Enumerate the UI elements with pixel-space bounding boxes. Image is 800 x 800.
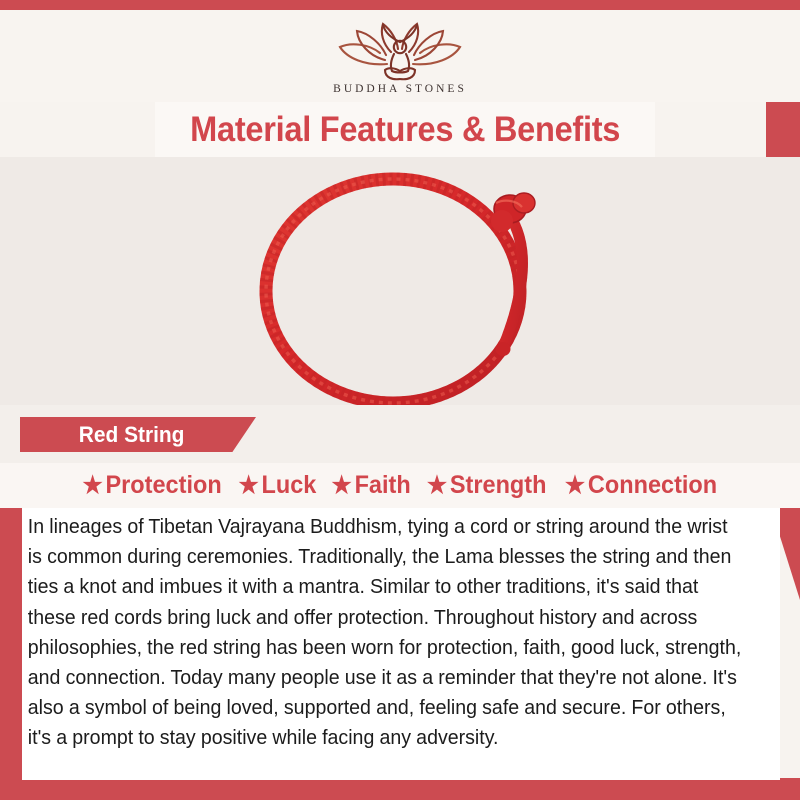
star-icon: ★: [331, 474, 351, 498]
product-label-banner: Red String: [20, 417, 256, 452]
red-string-bracelet-image: [238, 159, 568, 419]
benefit-item-luck: ★ Luck: [236, 471, 320, 500]
frame-bottom-border: [0, 778, 800, 800]
benefit-item-connection: ★ Connection: [562, 471, 720, 500]
brand-name: BUDDHA STONES: [333, 83, 467, 95]
frame-top-border: [0, 0, 800, 10]
benefit-label: Faith: [354, 471, 410, 500]
benefit-label: Strength: [450, 471, 547, 500]
infographic-card: BUDDHA STONES Material Features & Benefi…: [0, 0, 800, 800]
benefit-item-faith: ★ Faith: [328, 471, 413, 500]
star-icon: ★: [238, 474, 258, 498]
description-panel: In lineages of Tibetan Vajrayana Buddhis…: [22, 508, 780, 780]
product-label-text: Red String: [79, 422, 185, 448]
title-band: Material Features & Benefits: [155, 102, 655, 157]
benefit-item-protection: ★ Protection: [79, 471, 224, 500]
benefit-label: Protection: [105, 471, 221, 500]
star-icon: ★: [82, 474, 102, 498]
lotus-meditation-figure-icon: [325, 20, 475, 82]
star-icon: ★: [427, 474, 447, 498]
description-text: In lineages of Tibetan Vajrayana Buddhis…: [22, 510, 753, 754]
page-title: Material Features & Benefits: [190, 110, 620, 150]
product-photo-band: [0, 157, 800, 419]
brand-header: BUDDHA STONES: [0, 10, 800, 102]
star-icon: ★: [565, 474, 585, 498]
benefit-label: Luck: [261, 471, 316, 500]
benefit-label: Connection: [588, 471, 717, 500]
benefit-item-strength: ★ Strength: [424, 471, 549, 500]
benefits-row: ★ Protection ★ Luck ★ Faith ★ Strength ★…: [0, 463, 800, 508]
brand-logo: BUDDHA STONES: [325, 20, 475, 95]
